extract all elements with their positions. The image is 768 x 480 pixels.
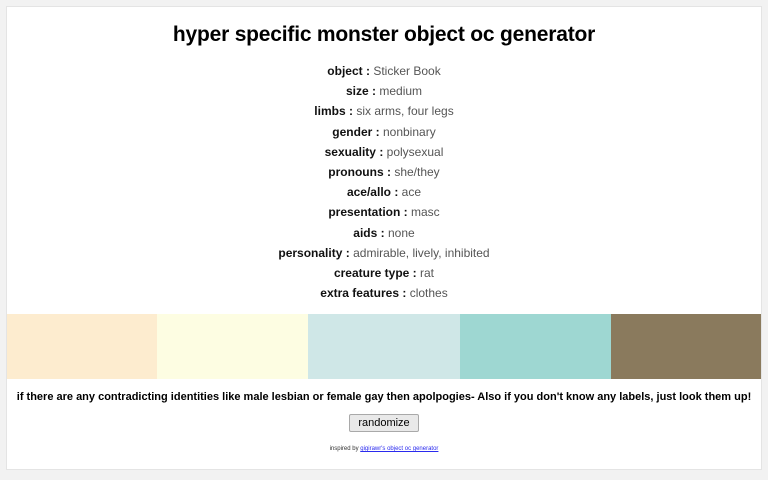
attribute-row-aids: aids : none [7,223,761,243]
page-title: hyper specific monster object oc generat… [7,23,761,47]
attribute-label: sexuality [325,145,376,159]
attribute-separator: : [402,286,406,300]
palette-swatch-2 [157,314,308,379]
attribute-row-personality: personality : admirable, lively, inhibit… [7,243,761,263]
credit-prefix: inspired by [330,446,361,452]
attribute-value: medium [379,84,422,98]
attribute-label: size [346,84,369,98]
attribute-separator: : [376,125,380,139]
attribute-label: aids [353,226,377,240]
attribute-value: she/they [394,165,439,179]
color-palette-band [6,314,762,379]
attribute-value: six arms, four legs [356,104,453,118]
attribute-value: admirable, lively, inhibited [353,246,490,260]
page-container: hyper specific monster object oc generat… [6,6,762,470]
palette-swatch-4 [460,314,611,379]
button-row: randomize [7,413,761,432]
palette-swatch-3 [308,314,459,379]
attribute-list: object : Sticker Book size : medium limb… [7,61,761,303]
attribute-value: masc [411,205,440,219]
attribute-label: pronouns [328,165,383,179]
attribute-separator: : [387,165,391,179]
attribute-separator: : [372,84,376,98]
attribute-separator: : [379,145,383,159]
attribute-value: none [388,226,415,240]
attribute-label: limbs [314,104,345,118]
attribute-separator: : [413,266,417,280]
attribute-separator: : [394,185,398,199]
attribute-label: object [327,64,362,78]
attribute-separator: : [366,64,370,78]
credit-source-link[interactable]: gigirawr's object oc generator [360,446,438,452]
attribute-separator: : [346,246,350,260]
attribute-row-ace-allo: ace/allo : ace [7,182,761,202]
attribute-label: presentation [328,205,400,219]
attribute-row-extra-features: extra features : clothes [7,283,761,303]
attribute-row-presentation: presentation : masc [7,202,761,222]
attribute-value: ace [402,185,421,199]
attribute-row-sexuality: sexuality : polysexual [7,142,761,162]
attribute-separator: : [404,205,408,219]
attribute-row-creature-type: creature type : rat [7,263,761,283]
attribute-label: creature type [334,266,409,280]
attribute-value: Sticker Book [373,64,440,78]
attribute-row-object: object : Sticker Book [7,61,761,81]
attribute-row-size: size : medium [7,81,761,101]
attribute-label: extra features [320,286,399,300]
attribute-row-gender: gender : nonbinary [7,122,761,142]
attribute-label: ace/allo [347,185,391,199]
attribute-separator: : [349,104,353,118]
disclaimer-text: if there are any contradicting identitie… [7,391,761,403]
attribute-value: clothes [410,286,448,300]
attribute-value: polysexual [387,145,444,159]
palette-swatch-5 [611,314,762,379]
credit-line: inspired by gigirawr's object oc generat… [7,446,761,452]
attribute-label: gender [332,125,372,139]
attribute-label: personality [278,246,342,260]
randomize-button[interactable]: randomize [349,414,418,432]
attribute-row-limbs: limbs : six arms, four legs [7,101,761,121]
palette-swatch-1 [6,314,157,379]
attribute-value: nonbinary [383,125,436,139]
attribute-value: rat [420,266,434,280]
attribute-separator: : [381,226,385,240]
attribute-row-pronouns: pronouns : she/they [7,162,761,182]
